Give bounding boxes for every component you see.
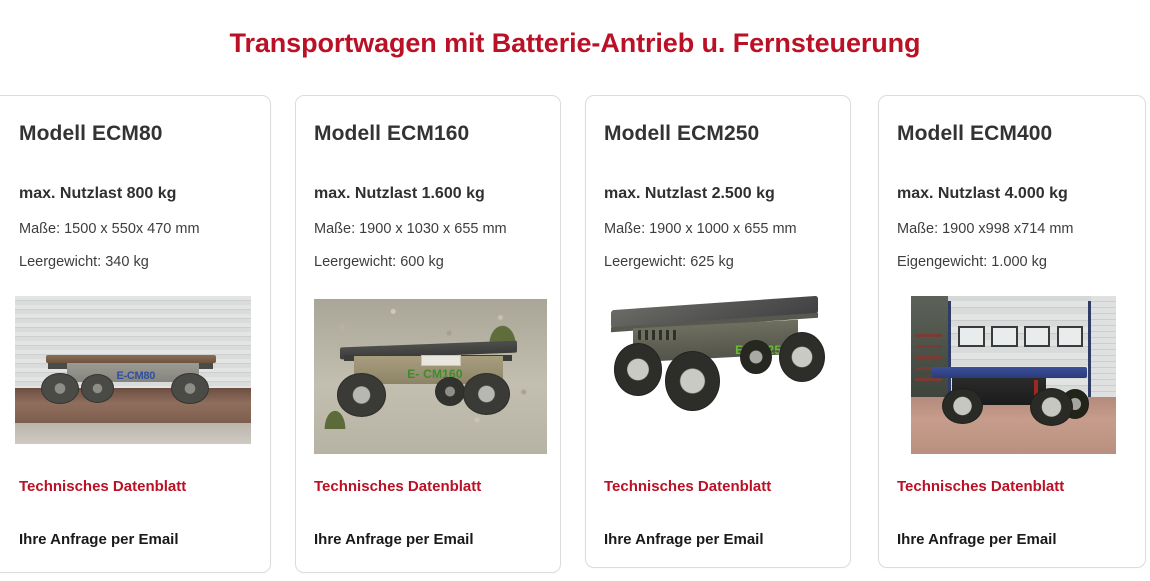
wheel-icon: [942, 388, 983, 424]
spec-max-payload: max. Nutzlast 4.000 kg: [897, 185, 1068, 203]
product-card-ecm400[interactable]: Modell ECM400 max. Nutzlast 4.000 kg Maß…: [878, 95, 1146, 568]
model-title: Modell ECM80: [19, 122, 163, 146]
door-window: [991, 326, 1018, 347]
door-window: [958, 326, 985, 347]
floor-foreground: [15, 423, 251, 444]
spec-empty-weight: Leergewicht: 340 kg: [19, 254, 149, 270]
ecm160-photo: E- CM160: [314, 299, 547, 454]
datasheet-link[interactable]: Technisches Datenblatt: [604, 478, 771, 495]
product-card-ecm80[interactable]: Modell ECM80 max. Nutzlast 800 kg Maße: …: [0, 95, 271, 573]
ecm400-photo: [911, 296, 1116, 454]
page-title: Transportwagen mit Batterie-Antrieb u. F…: [0, 28, 1150, 59]
wheel-icon: [1030, 388, 1073, 426]
spec-own-weight: Eigengewicht: 1.000 kg: [897, 254, 1047, 270]
cart-vents: [638, 330, 677, 341]
email-inquiry-link[interactable]: Ihre Anfrage per Email: [897, 531, 1057, 548]
model-title: Modell ECM250: [604, 122, 759, 146]
door-window: [1024, 326, 1051, 347]
spec-max-payload: max. Nutzlast 1.600 kg: [314, 185, 485, 203]
product-card-grid: Modell ECM80 max. Nutzlast 800 kg Maße: …: [0, 95, 1150, 581]
cart-deck: [46, 355, 216, 362]
spec-dimensions: Maße: 1900 x 1000 x 655 mm: [604, 221, 797, 237]
ecm80-photo: E-CM80: [15, 296, 251, 444]
wheel-icon: [171, 373, 209, 404]
email-inquiry-link[interactable]: Ihre Anfrage per Email: [604, 531, 764, 548]
spec-dimensions: Maße: 1900 x998 x714 mm: [897, 221, 1074, 237]
model-title: Modell ECM160: [314, 122, 469, 146]
door-window: [1057, 326, 1084, 347]
spec-max-payload: max. Nutzlast 2.500 kg: [604, 185, 775, 203]
wheel-icon: [435, 377, 465, 406]
spec-empty-weight: Leergewicht: 600 kg: [314, 254, 444, 270]
email-inquiry-link[interactable]: Ihre Anfrage per Email: [314, 531, 474, 548]
wheel-icon: [740, 340, 772, 374]
wheel-icon: [614, 343, 663, 396]
spec-dimensions: Maße: 1900 x 1030 x 655 mm: [314, 221, 507, 237]
model-title: Modell ECM400: [897, 122, 1052, 146]
wheel-icon: [81, 374, 114, 402]
spec-dimensions: Maße: 1500 x 550x 470 mm: [19, 221, 200, 237]
wheel-icon: [463, 373, 510, 415]
datasheet-link[interactable]: Technisches Datenblatt: [314, 478, 481, 495]
spec-max-payload: max. Nutzlast 800 kg: [19, 185, 176, 203]
spec-empty-weight: Leergewicht: 625 kg: [604, 254, 734, 270]
wheel-icon: [41, 373, 79, 404]
cart-badge-label: E-CM80: [116, 370, 155, 382]
datasheet-link[interactable]: Technisches Datenblatt: [19, 478, 186, 495]
facade-wall: [1091, 296, 1116, 397]
wheel-icon: [779, 332, 825, 382]
datasheet-link[interactable]: Technisches Datenblatt: [897, 478, 1064, 495]
ecm250-photo: E-CM250: [599, 290, 842, 422]
product-card-ecm250[interactable]: Modell ECM250 max. Nutzlast 2.500 kg Maß…: [585, 95, 851, 568]
vegetation: [323, 408, 346, 430]
cart-nameplate: [421, 355, 461, 366]
cart-deck: [932, 367, 1088, 378]
email-inquiry-link[interactable]: Ihre Anfrage per Email: [19, 531, 179, 548]
product-overview-page: Transportwagen mit Batterie-Antrieb u. F…: [0, 0, 1150, 581]
wheel-icon: [665, 351, 721, 412]
product-card-ecm160[interactable]: Modell ECM160 max. Nutzlast 1.600 kg Maß…: [295, 95, 561, 573]
